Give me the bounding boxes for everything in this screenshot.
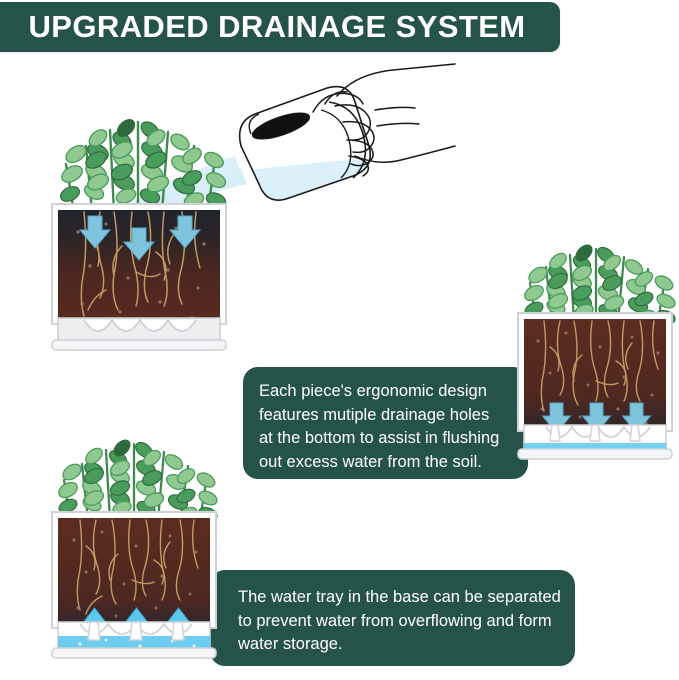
planter-cross-section-draining (512, 243, 678, 493)
callout-water-tray: The water tray in the base can be separa… (210, 570, 575, 666)
base-tray (52, 622, 216, 658)
watering-hand-illustration (225, 60, 455, 235)
base-tray (52, 318, 226, 350)
plant-foliage (56, 437, 219, 523)
planter-cross-section-watering (44, 112, 234, 362)
infographic-canvas: UPGRADED DRAINAGE SYSTEM Each piece's er… (0, 0, 679, 680)
planter-cross-section-wicking (44, 432, 224, 680)
page-title: UPGRADED DRAINAGE SYSTEM (10, 9, 525, 45)
leaves (58, 116, 228, 209)
leaves (56, 437, 219, 523)
plant-foliage (58, 116, 228, 212)
callout-drainage-holes: Each piece's ergonomic design features m… (243, 367, 528, 479)
callout-drainage-holes-text: Each piece's ergonomic design features m… (259, 380, 528, 474)
title-banner: UPGRADED DRAINAGE SYSTEM (0, 2, 560, 52)
base-tray (518, 425, 672, 459)
callout-water-tray-text: The water tray in the base can be separa… (233, 586, 575, 657)
